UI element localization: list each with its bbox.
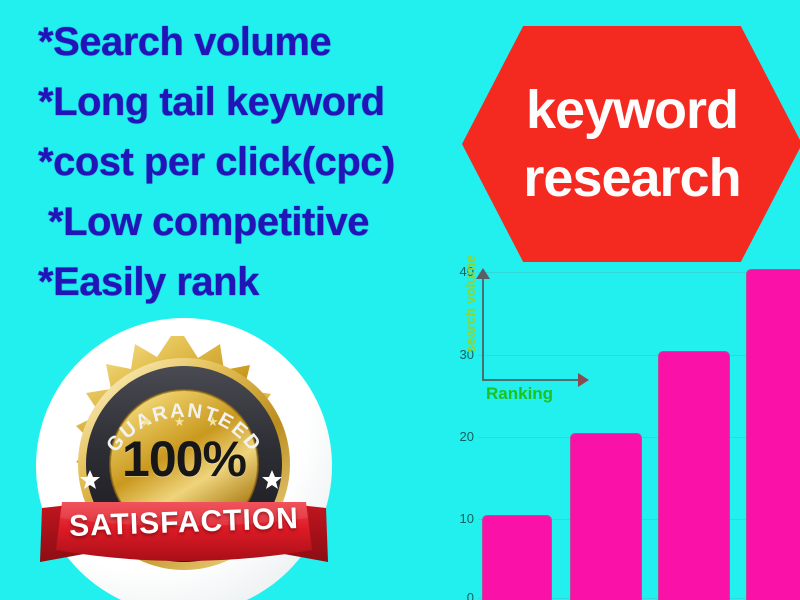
bar-1	[482, 515, 552, 600]
hexagon-text-block: keyword research	[462, 26, 800, 262]
badge-percent-text: 100%	[36, 431, 332, 487]
feature-item-easily-rank: *Easily rank	[38, 252, 488, 312]
feature-item-cost-per-click: *cost per click(cpc)	[38, 132, 488, 192]
bar-group	[478, 258, 800, 600]
hexagon-title-line-2: research	[523, 147, 740, 209]
x-axis-arrowhead-icon	[578, 373, 589, 387]
feature-item-search-volume: *Search volume	[38, 12, 488, 72]
x-axis-arrow-line	[482, 379, 580, 381]
y-tick-10: 10	[440, 511, 474, 526]
x-axis-title: Ranking	[486, 384, 553, 404]
thumbnail-canvas: *Search volume *Long tail keyword *cost …	[0, 0, 800, 600]
y-tick-0: 0	[440, 590, 474, 600]
keyword-research-hexagon: keyword research	[462, 26, 800, 262]
search-volume-bar-chart: 40 30 20 10 0 search volume Ranking	[440, 258, 800, 600]
feature-list: *Search volume *Long tail keyword *cost …	[38, 12, 488, 312]
badge-center-stars: ★ ★ ★	[36, 414, 332, 430]
bar-2	[570, 433, 642, 600]
bar-3	[658, 351, 730, 600]
bar-4	[746, 269, 800, 600]
feature-item-long-tail-keyword: *Long tail keyword	[38, 72, 488, 132]
y-tick-20: 20	[440, 429, 474, 444]
satisfaction-guarantee-badge: GUARANTEED ★ ★ ★ 100% SATISFACTION	[36, 318, 332, 600]
feature-item-low-competitive: *Low competitive	[38, 192, 488, 252]
hexagon-title-line-1: keyword	[526, 79, 738, 141]
